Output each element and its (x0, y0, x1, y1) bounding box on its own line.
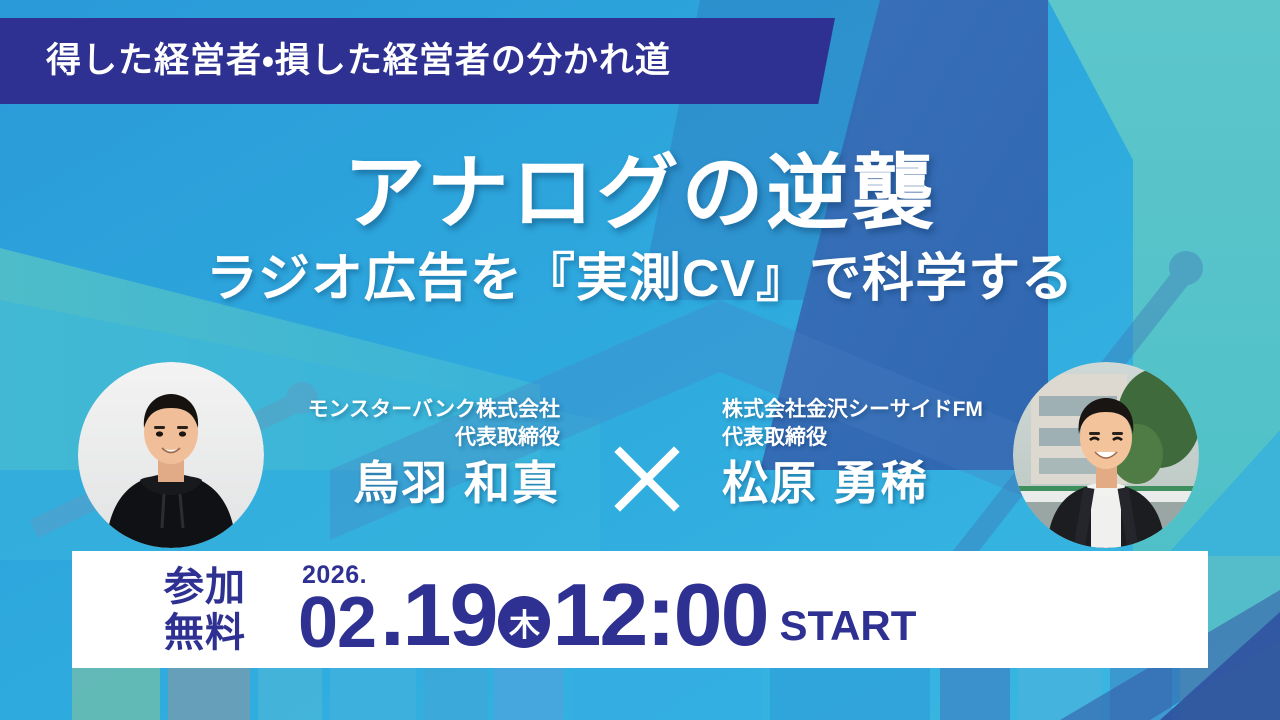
start-label: START (780, 602, 917, 650)
top-ribbon-text: 得した経営者・損した経営者の分かれ道 (46, 30, 671, 92)
event-info-bar: 参加 無料 2026. 02 .19 木 12:00 START (72, 551, 1208, 668)
free-admission-badge: 参加 無料 (164, 567, 246, 653)
avatar-right (1013, 362, 1199, 548)
year-month-block: 2026. 02 (298, 563, 376, 656)
speaker-left-name: 鳥羽 和真 (240, 457, 560, 510)
speaker-left-company: モンスターバンク株式会社 (240, 396, 560, 424)
speaker-left-role: 代表取締役 (240, 424, 560, 452)
page-subtitle: ラジオ広告を『実測CV』で科学する (0, 251, 1280, 308)
speaker-right-company: 株式会社金沢シーサイドFM (722, 396, 1052, 424)
speaker-right-name: 松原 勇稀 (722, 457, 1052, 510)
event-datetime: 2026. 02 .19 木 12:00 START (298, 563, 916, 656)
weekday-badge: 木 (498, 596, 550, 648)
event-time: 12:00 (552, 575, 767, 656)
page-title: アナログの逆襲 (0, 150, 1280, 239)
speaker-right-role: 代表取締役 (722, 424, 1052, 452)
free-line-1: 参加 (164, 567, 246, 607)
event-month: 02 (298, 590, 376, 656)
speaker-right-info: 株式会社金沢シーサイドFM 代表取締役 松原 勇稀 (722, 396, 1052, 511)
cross-icon (612, 444, 682, 514)
speaker-left-info: モンスターバンク株式会社 代表取締役 鳥羽 和真 (240, 396, 560, 511)
headline-block: アナログの逆襲 ラジオ広告を『実測CV』で科学する (0, 150, 1280, 308)
event-banner: 得した経営者・損した経営者の分かれ道 アナログの逆襲 ラジオ広告を『実測CV』で… (0, 0, 1280, 720)
free-line-2: 無料 (164, 613, 246, 653)
event-day: .19 (380, 575, 496, 656)
avatar-left (78, 362, 264, 548)
